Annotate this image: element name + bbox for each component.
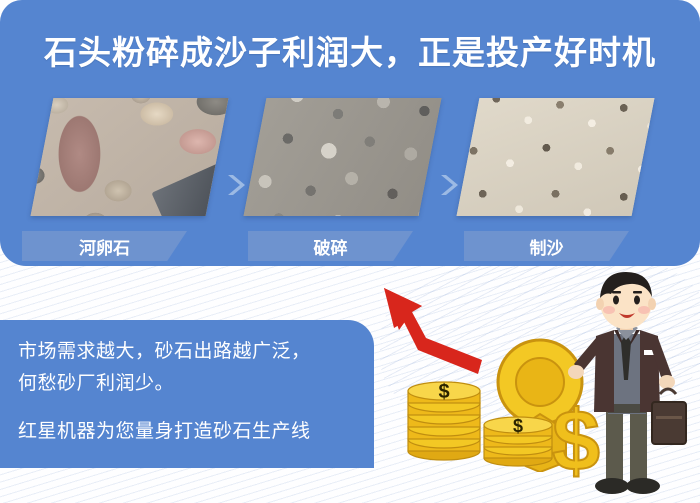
svg-text:$: $ xyxy=(438,381,449,403)
chevron-right-icon xyxy=(437,172,463,198)
crushed-gravel-photo xyxy=(244,98,442,216)
chevron-right-icon xyxy=(224,172,250,198)
gold-coin-stack: $ xyxy=(404,375,484,466)
process-step-photo-card xyxy=(31,98,229,216)
process-step-photo-card xyxy=(457,98,655,216)
banner-canvas: 石头粉碎成沙子利润大，正是投产好时机 河卵石 破碎 制沙 xyxy=(0,0,700,503)
process-step-label: 河卵石 xyxy=(22,231,187,261)
message-panel: 市场需求越大，砂石出路越广泛， 何愁砂厂利润少。 红星机器为您量身打造砂石生产线 xyxy=(0,320,374,468)
process-step-label-text: 河卵石 xyxy=(22,234,187,259)
message-line-2: 何愁砂厂利润少。 xyxy=(18,368,174,395)
businessman-with-briefcase-illustration xyxy=(556,272,696,503)
process-step-label-text: 破碎 xyxy=(248,234,413,259)
river-pebbles-photo xyxy=(31,98,229,216)
upward-trend-arrow-icon xyxy=(352,276,482,386)
process-step-photo-card xyxy=(244,98,442,216)
manufactured-sand-photo xyxy=(457,98,655,216)
gold-coin-stack: $ xyxy=(480,408,556,473)
message-line-1: 市场需求越大，砂石出路越广泛， xyxy=(18,336,311,363)
page-title: 石头粉碎成沙子利润大，正是投产好时机 xyxy=(0,26,700,74)
message-line-3: 红星机器为您量身打造砂石生产线 xyxy=(18,416,311,443)
process-step-label: 破碎 xyxy=(248,231,413,261)
process-step-label-text: 制沙 xyxy=(464,234,629,259)
process-step-label: 制沙 xyxy=(464,231,629,261)
svg-text:$: $ xyxy=(513,416,523,436)
